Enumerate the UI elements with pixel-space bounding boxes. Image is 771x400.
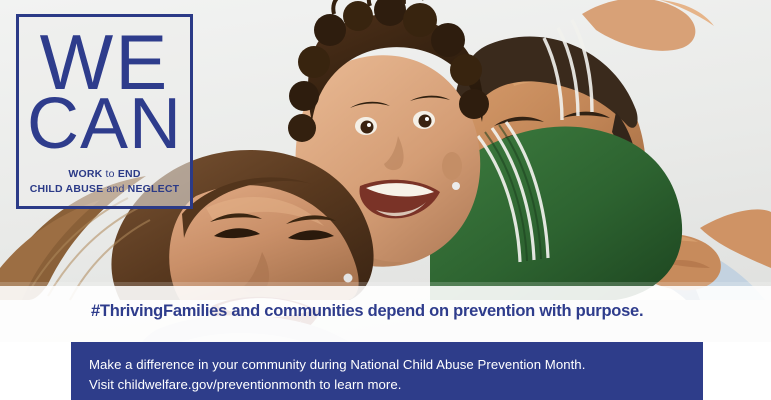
we-can-logo: WE CAN WORK to END CHILD ABUSE and NEGLE… bbox=[16, 14, 193, 209]
bottom-left-fill bbox=[0, 342, 71, 400]
bottom-right-fill bbox=[703, 342, 771, 400]
cta-line-1: Make a difference in your community duri… bbox=[89, 355, 703, 375]
logo-tagline: WORK to END CHILD ABUSE and NEGLECT bbox=[19, 167, 190, 197]
cta-bar: Make a difference in your community duri… bbox=[71, 342, 703, 400]
logo-line-can: CAN bbox=[19, 93, 190, 156]
tagline-and: and bbox=[106, 183, 124, 195]
headline-text: #ThrivingFamilies and communities depend… bbox=[91, 302, 731, 321]
tagline-to: to bbox=[106, 168, 115, 180]
tagline-child-abuse: CHILD ABUSE bbox=[30, 183, 104, 195]
tagline-neglect: NEGLECT bbox=[128, 183, 180, 195]
poster-root: WE CAN WORK to END CHILD ABUSE and NEGLE… bbox=[0, 0, 771, 400]
tagline-end: END bbox=[118, 168, 141, 180]
tagline-work: WORK bbox=[68, 168, 102, 180]
logo-tagline-line-2: CHILD ABUSE and NEGLECT bbox=[19, 182, 190, 197]
cta-line-2: Visit childwelfare.gov/preventionmonth t… bbox=[89, 375, 703, 395]
logo-tagline-line-1: WORK to END bbox=[19, 167, 190, 182]
